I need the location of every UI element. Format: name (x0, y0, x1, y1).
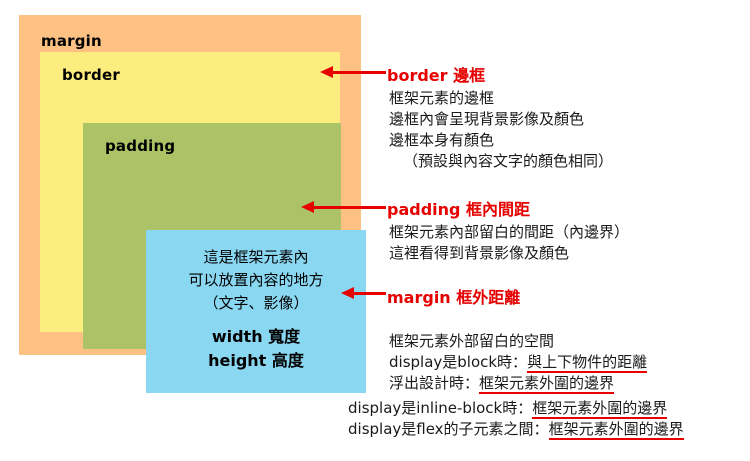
extra-annotation-body: display是inline-block時：框架元素外圍的邊界 display是… (348, 398, 684, 440)
margin-body-line-2-underlined: 與上下物件的距離 (527, 353, 647, 373)
padding-annotation-heading: padding 框內間距 (387, 196, 530, 220)
margin-annotation-heading: margin 框外距離 (387, 284, 520, 308)
border-body-line-3: 邊框本身有顏色 (389, 131, 494, 149)
padding-annotation-body: 框架元素內部留白的間距（內邊界） 這裡看得到背景影像及顏色 (389, 222, 629, 264)
extra-body-line-2-underlined: 框架元素外圍的邊界 (549, 420, 684, 440)
margin-body-line-3-underlined: 框架元素外圍的邊界 (479, 374, 614, 394)
margin-annotation-body: 框架元素外部留白的空間 display是block時：與上下物件的距離 浮出設計… (389, 331, 647, 394)
border-annotation-heading: border 邊框 (387, 62, 485, 86)
extra-body-line-1-underlined: 框架元素外圍的邊界 (532, 399, 667, 419)
padding-body-line-2: 這裡看得到背景影像及顏色 (389, 244, 569, 262)
border-annotation-body: 框架元素的邊框 邊框內會呈現背景影像及顏色 邊框本身有顏色 （預設與內容文字的顏… (389, 88, 613, 172)
extra-body-line-2: display是flex的子元素之間： (348, 420, 549, 438)
border-body-line-1: 框架元素的邊框 (389, 89, 494, 107)
margin-body-line-2: display是block時： (389, 353, 527, 371)
padding-body-line-1: 框架元素內部留白的間距（內邊界） (389, 223, 629, 241)
annotations-panel: border 邊框 框架元素的邊框 邊框內會呈現背景影像及顏色 邊框本身有顏色 … (0, 0, 750, 461)
border-body-line-2: 邊框內會呈現背景影像及顏色 (389, 110, 584, 128)
extra-body-line-1: display是inline-block時： (348, 399, 532, 417)
border-body-line-4: （預設與內容文字的顏色相同） (389, 151, 613, 172)
margin-body-line-1: 框架元素外部留白的空間 (389, 332, 554, 350)
margin-body-line-3: 浮出設計時： (389, 374, 479, 392)
